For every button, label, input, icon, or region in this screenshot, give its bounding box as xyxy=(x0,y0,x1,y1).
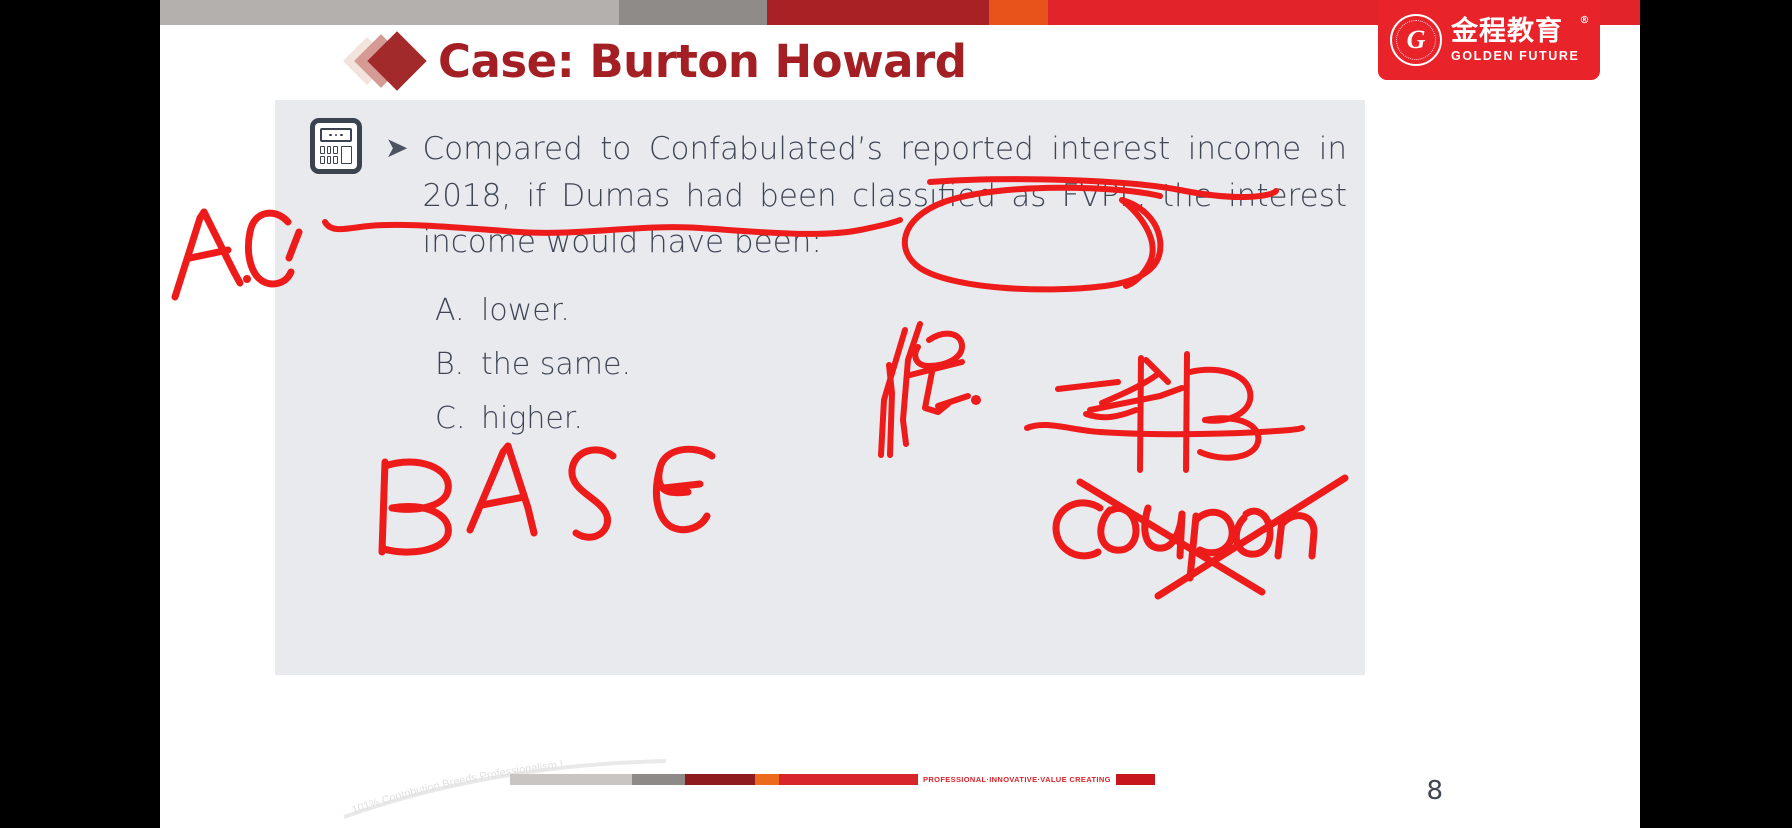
calculator-key xyxy=(327,156,332,164)
answer-options: A. lower. B. the same. C. higher. xyxy=(435,284,1347,446)
footbar-segment-pale-gray xyxy=(510,774,632,785)
calculator-key xyxy=(320,146,325,154)
registered-mark: ® xyxy=(1579,16,1590,26)
calculator-key xyxy=(333,146,338,154)
brand-logo: G 金程教育® GOLDEN FUTURE xyxy=(1378,0,1600,80)
topbar-segment-dark-red xyxy=(767,0,989,25)
page-number: 8 xyxy=(1426,776,1443,806)
option-c-label: C. xyxy=(435,392,481,446)
question-block: ➤ Compared to Confabulated’s reported in… xyxy=(385,126,1347,446)
slide-title: Case: Burton Howard xyxy=(438,35,966,88)
answer-option-b[interactable]: B. the same. xyxy=(435,338,1347,392)
brand-name-en: GOLDEN FUTURE xyxy=(1451,50,1579,63)
letterbox-left xyxy=(0,0,160,828)
footer-color-bar: PROFESSIONAL·INNOVATIVE·VALUE CREATING xyxy=(510,774,1155,785)
topbar-segment-orange xyxy=(989,0,1048,25)
calculator-key xyxy=(333,156,338,164)
calculator-display-dot xyxy=(340,134,343,137)
calculator-keypad xyxy=(320,146,352,164)
topbar-segment-mid-gray xyxy=(619,0,767,25)
calculator-enter-key xyxy=(341,146,352,164)
footer-bar-tail xyxy=(1116,774,1155,785)
option-b-text: the same. xyxy=(481,338,631,392)
arrow-bullet-icon: ➤ xyxy=(385,134,408,266)
footer-watermark: 101% Contribution Breeds Professionalism… xyxy=(340,753,670,823)
brand-name-cn-chars: 金程教育 xyxy=(1451,16,1563,47)
footbar-segment-bright-red xyxy=(779,774,918,785)
golden-future-seal-icon: G xyxy=(1390,14,1442,66)
letterbox-right xyxy=(1640,0,1792,828)
answer-option-c[interactable]: C. higher. xyxy=(435,392,1347,446)
content-panel: ➤ Compared to Confabulated’s reported in… xyxy=(275,100,1365,675)
calculator-display-dot xyxy=(329,134,332,137)
slide-title-row: Case: Burton Howard xyxy=(350,30,966,92)
diamond-bullet-icon xyxy=(350,30,424,92)
question-text: Compared to Confabulated’s reported inte… xyxy=(422,126,1347,266)
presentation-slide: G 金程教育® GOLDEN FUTURE Case: Burton Howar… xyxy=(160,0,1640,828)
option-a-label: A. xyxy=(435,284,481,338)
calculator-display xyxy=(320,128,352,142)
footbar-segment-orange xyxy=(755,774,779,785)
brand-name-cn: 金程教育® xyxy=(1451,18,1579,45)
answer-option-a[interactable]: A. lower. xyxy=(435,284,1347,338)
calculator-key-grid xyxy=(320,146,338,164)
calculator-icon xyxy=(310,118,362,174)
calculator-key xyxy=(320,156,325,164)
footer-tagline: PROFESSIONAL·INNOVATIVE·VALUE CREATING xyxy=(923,775,1111,784)
svg-text:101% Contribution Breeds Profe: 101% Contribution Breeds Professionalism… xyxy=(350,759,563,817)
footbar-segment-dark-red xyxy=(685,774,754,785)
screen-capture: G 金程教育® GOLDEN FUTURE Case: Burton Howar… xyxy=(0,0,1792,828)
footer-watermark-text: 101% Contribution Breeds Professionalism… xyxy=(350,759,563,817)
question-row: ➤ Compared to Confabulated’s reported in… xyxy=(385,126,1347,266)
calculator-key xyxy=(327,146,332,154)
topbar-segment-light-gray xyxy=(160,0,619,25)
seal-ring xyxy=(1396,20,1436,60)
option-b-label: B. xyxy=(435,338,481,392)
option-a-text: lower. xyxy=(481,284,570,338)
brand-logo-text: 金程教育® GOLDEN FUTURE xyxy=(1451,18,1579,63)
calculator-display-dot xyxy=(335,134,338,137)
option-c-text: higher. xyxy=(481,392,583,446)
footbar-segment-mid-gray xyxy=(632,774,685,785)
